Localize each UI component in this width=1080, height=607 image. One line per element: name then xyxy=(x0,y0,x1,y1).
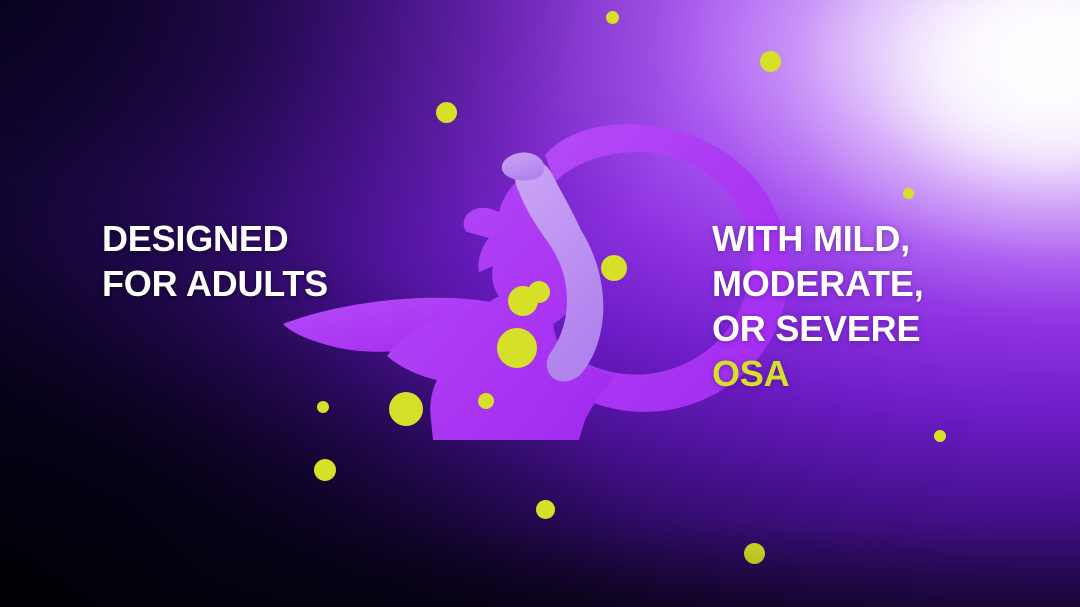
headline-right-line-2: MODERATE, xyxy=(712,261,924,306)
headline-left-line-2: FOR ADULTS xyxy=(102,261,328,306)
headline-left-line-1: DESIGNED xyxy=(102,216,328,261)
headline-left: DESIGNED FOR ADULTS xyxy=(102,216,328,306)
promo-banner: DESIGNED FOR ADULTS WITH MILD, MODERATE,… xyxy=(0,0,1080,607)
headline-right: WITH MILD, MODERATE, OR SEVERE OSA xyxy=(712,216,924,396)
headline-right-line-4: OSA xyxy=(712,351,924,396)
headline-right-line-3: OR SEVERE xyxy=(712,306,924,351)
headline-right-line-1: WITH MILD, xyxy=(712,216,924,261)
